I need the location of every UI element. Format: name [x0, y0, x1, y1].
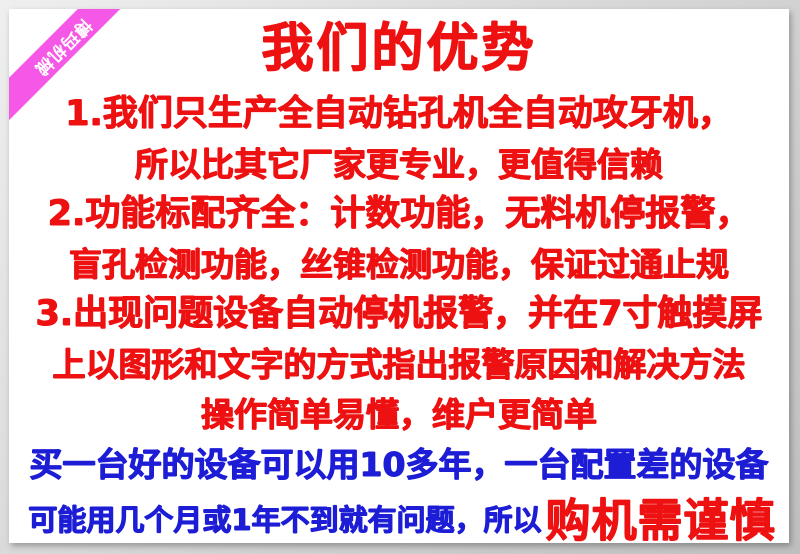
advantage-line-5: 3.出现问题设备自动停机报警，并在7寸触摸屏 [9, 289, 789, 339]
advantage-line-6: 上以图形和文字的方式指出报警原因和解决方法 [9, 339, 789, 389]
advantage-line-2: 所以比其它厂家更专业，更值得信赖 [9, 139, 789, 189]
poster-card: 博玛机械 我们的优势 1.我们只生产全自动钻孔机全自动攻牙机， 所以比其它厂家更… [9, 9, 789, 543]
advantage-line-4: 盲孔检测功能，丝锥检测功能，保证过通止规 [9, 239, 789, 289]
poster-content: 我们的优势 1.我们只生产全自动钻孔机全自动攻牙机， 所以比其它厂家更专业，更值… [9, 9, 789, 543]
advantage-line-7: 操作简单易懂，维户更简单 [9, 389, 789, 439]
page-title: 我们的优势 [9, 9, 789, 89]
advantage-line-1: 1.我们只生产全自动钻孔机全自动攻牙机， [9, 89, 789, 139]
warning-line-2-lead: 可能用几个月或1年不到就有问题，所以 [28, 506, 541, 535]
warning-emphasis: 购机需谨慎 [546, 498, 776, 543]
warning-line-2: 可能用几个月或1年不到就有问题，所以 购机需谨慎 [9, 489, 789, 543]
warning-line-1: 买一台好的设备可以用10多年，一台配置差的设备 [9, 439, 789, 489]
advantage-line-3: 2.功能标配齐全：计数功能，无料机停报警， [9, 189, 789, 239]
poster-canvas: 博玛机械 我们的优势 1.我们只生产全自动钻孔机全自动攻牙机， 所以比其它厂家更… [0, 0, 800, 554]
